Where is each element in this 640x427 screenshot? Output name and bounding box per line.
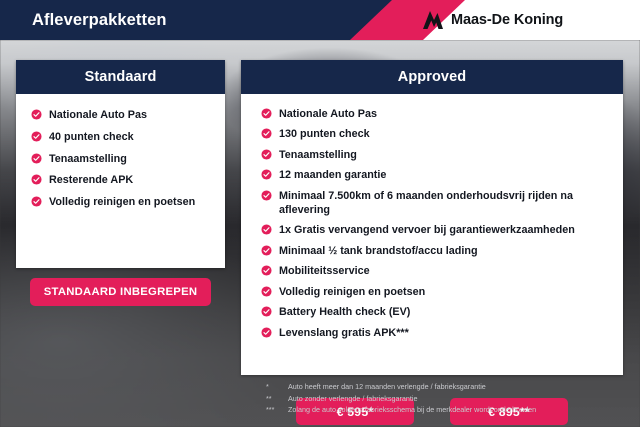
- check-circle-icon: [261, 327, 272, 338]
- brand-name: Maas-De Koning: [451, 12, 563, 28]
- feature-label: Volledig reinigen en poetsen: [49, 195, 195, 209]
- footnote-text: Auto zonder verlengde / fabrieksgarantie: [288, 393, 616, 405]
- feature-item: Minimaal ½ tank brandstof/accu lading: [241, 244, 623, 258]
- feature-item: Tenaamstelling: [241, 148, 623, 162]
- footnote-text: Zolang de auto volgens fabrieksschema bi…: [288, 404, 616, 416]
- feature-item: Resterende APK: [16, 173, 225, 187]
- footnote-marker: ***: [266, 404, 288, 416]
- card-title-approved: Approved: [241, 60, 623, 94]
- feature-label: Minimaal 7.500km of 6 maanden onderhouds…: [279, 189, 611, 218]
- footnotes: *Auto heeft meer dan 12 maanden verlengd…: [266, 381, 616, 416]
- feature-item: Volledig reinigen en poetsen: [241, 285, 623, 299]
- feature-item: Tenaamstelling: [16, 152, 225, 166]
- package-card-approved: Approved Nationale Auto Pas130 punten ch…: [241, 60, 623, 375]
- footnote-text: Auto heeft meer dan 12 maanden verlengde…: [288, 381, 616, 393]
- feature-label: Nationale Auto Pas: [49, 108, 147, 122]
- check-circle-icon: [261, 224, 272, 235]
- check-circle-icon: [261, 286, 272, 297]
- feature-item: Minimaal 7.500km of 6 maanden onderhouds…: [241, 189, 623, 218]
- feature-label: 1x Gratis vervangend vervoer bij garanti…: [279, 223, 575, 237]
- standaard-included-button[interactable]: STANDAARD INBEGREPEN: [30, 278, 211, 306]
- feature-list-approved: Nationale Auto Pas130 punten checkTenaam…: [241, 107, 623, 340]
- feature-label: Volledig reinigen en poetsen: [279, 285, 425, 299]
- footnote-marker: **: [266, 393, 288, 405]
- feature-label: 130 punten check: [279, 127, 370, 141]
- feature-list-standaard: Nationale Auto Pas40 punten checkTenaams…: [16, 108, 225, 209]
- footnote-row: *Auto heeft meer dan 12 maanden verlengd…: [266, 381, 616, 393]
- maas-de-koning-m-logo-icon: [422, 10, 444, 30]
- feature-item: Levenslang gratis APK***: [241, 326, 623, 340]
- check-circle-icon: [261, 265, 272, 276]
- card-body-approved: Nationale Auto Pas130 punten checkTenaam…: [241, 94, 623, 340]
- check-circle-icon: [261, 190, 272, 201]
- check-circle-icon: [31, 109, 42, 120]
- footnote-row: ***Zolang de auto volgens fabrieksschema…: [266, 404, 616, 416]
- feature-item: 40 punten check: [16, 130, 225, 144]
- check-circle-icon: [31, 131, 42, 142]
- footnote-marker: *: [266, 381, 288, 393]
- package-card-standaard: Standaard Nationale Auto Pas40 punten ch…: [16, 60, 225, 268]
- feature-label: 12 maanden garantie: [279, 168, 386, 182]
- feature-item: 130 punten check: [241, 127, 623, 141]
- feature-item: Mobiliteitsservice: [241, 264, 623, 278]
- feature-item: 1x Gratis vervangend vervoer bij garanti…: [241, 223, 623, 237]
- feature-label: Tenaamstelling: [279, 148, 357, 162]
- card-body-standaard: Nationale Auto Pas40 punten checkTenaams…: [16, 94, 225, 209]
- check-circle-icon: [31, 153, 42, 164]
- feature-item: Battery Health check (EV): [241, 305, 623, 319]
- page-title: Afleverpakketten: [32, 0, 167, 40]
- feature-label: 40 punten check: [49, 130, 134, 144]
- check-circle-icon: [261, 306, 272, 317]
- feature-label: Battery Health check (EV): [279, 305, 410, 319]
- feature-label: Minimaal ½ tank brandstof/accu lading: [279, 244, 478, 258]
- feature-item: 12 maanden garantie: [241, 168, 623, 182]
- page-header: Afleverpakketten Maas-De Koning: [0, 0, 640, 40]
- brand-logo: Maas-De Koning: [422, 0, 563, 40]
- check-circle-icon: [261, 149, 272, 160]
- check-circle-icon: [31, 196, 42, 207]
- feature-label: Resterende APK: [49, 173, 133, 187]
- check-circle-icon: [261, 169, 272, 180]
- check-circle-icon: [261, 128, 272, 139]
- check-circle-icon: [31, 174, 42, 185]
- footnote-row: **Auto zonder verlengde / fabrieksgarant…: [266, 393, 616, 405]
- card-title-standaard: Standaard: [16, 60, 225, 94]
- feature-label: Mobiliteitsservice: [279, 264, 370, 278]
- feature-item: Nationale Auto Pas: [16, 108, 225, 122]
- check-circle-icon: [261, 245, 272, 256]
- check-circle-icon: [261, 108, 272, 119]
- feature-label: Levenslang gratis APK***: [279, 326, 409, 340]
- feature-item: Nationale Auto Pas: [241, 107, 623, 121]
- feature-label: Nationale Auto Pas: [279, 107, 377, 121]
- feature-item: Volledig reinigen en poetsen: [16, 195, 225, 209]
- feature-label: Tenaamstelling: [49, 152, 127, 166]
